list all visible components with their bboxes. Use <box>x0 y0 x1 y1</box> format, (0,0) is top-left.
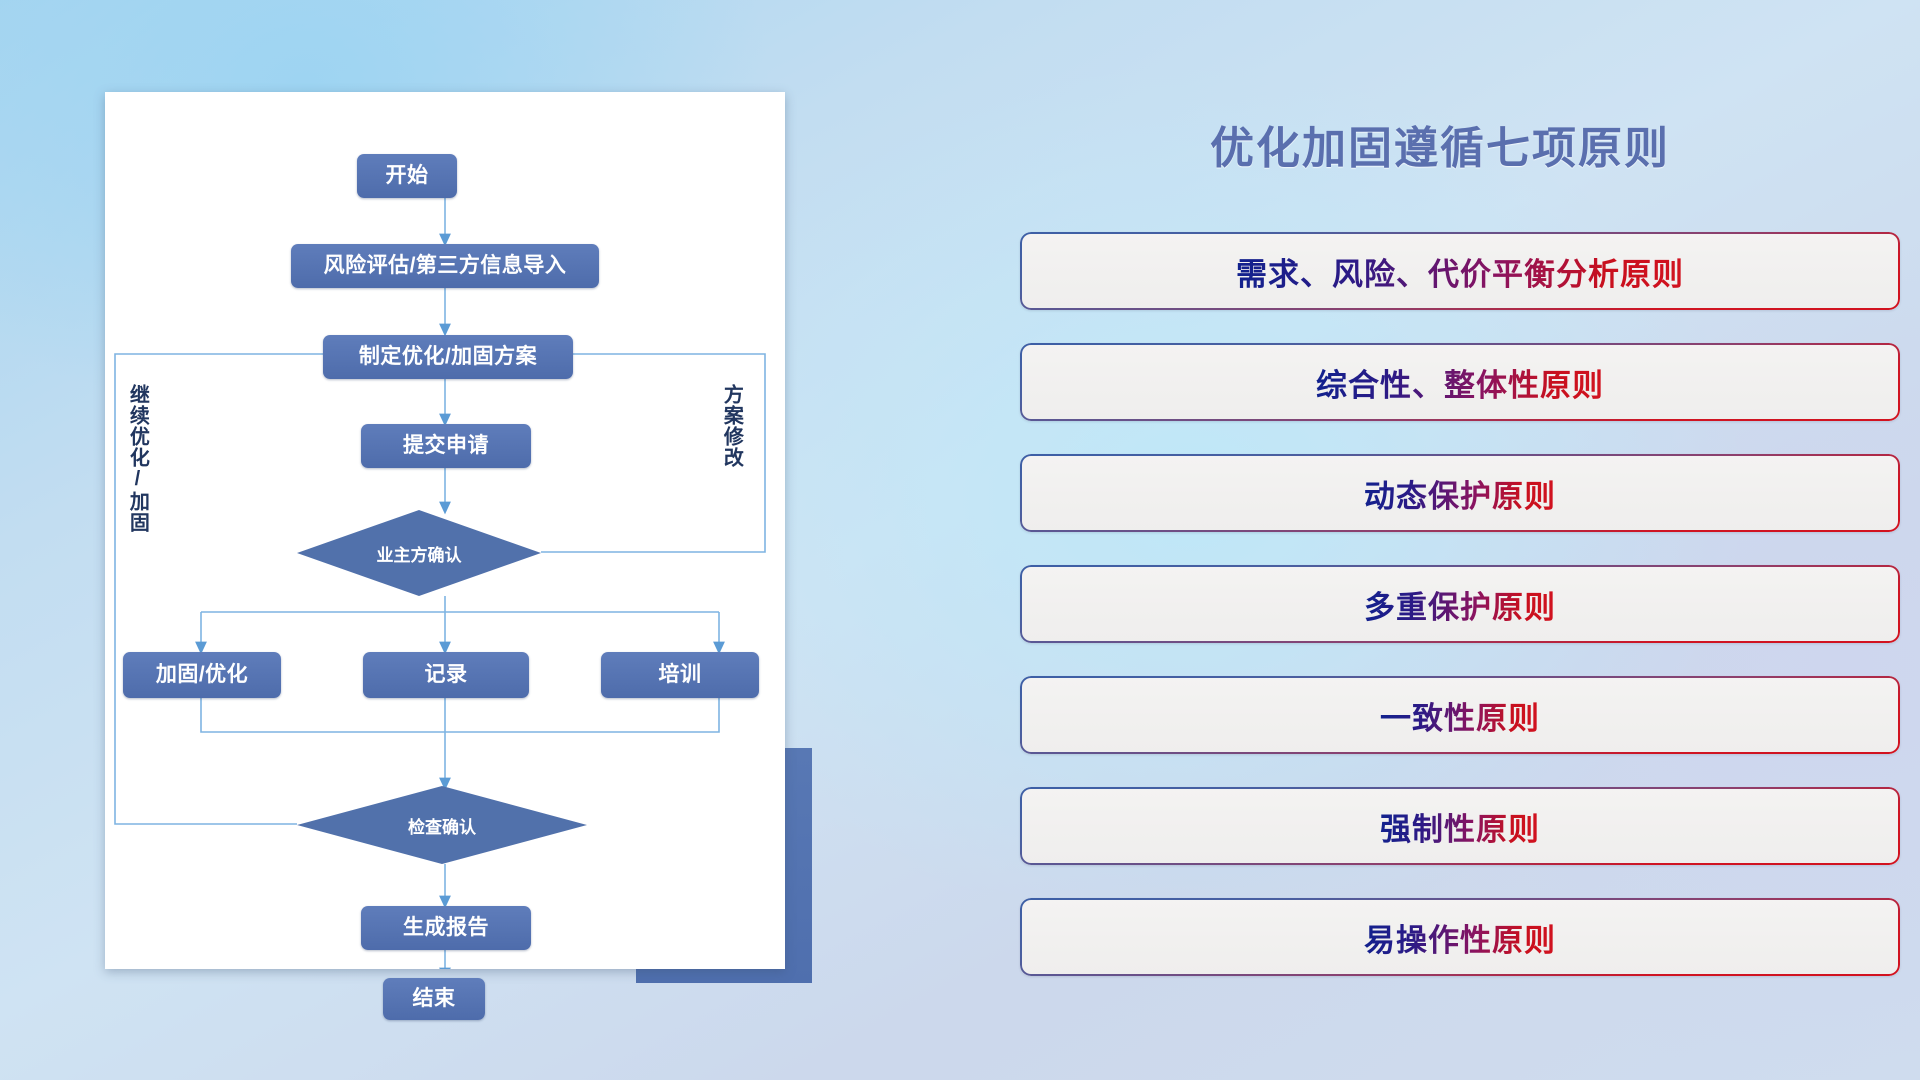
flowchart-panel: 开始 风险评估/第三方信息导入 制定优化/加固方案 提交申请 业主方确认 加固/… <box>0 0 1000 1080</box>
principle-label: 一致性原则 <box>1380 693 1540 738</box>
principles-title: 优化加固遵循七项原则 <box>1000 112 1880 176</box>
principle-label: 强制性原则 <box>1380 804 1540 849</box>
flow-node-generate-report[interactable]: 生成报告 <box>361 906 531 950</box>
flow-node-reinforce-optimize[interactable]: 加固/优化 <box>123 652 281 698</box>
edge-label-plan-revision: 方案修改 <box>721 384 741 468</box>
principle-card-6[interactable]: 强制性原则 <box>1020 787 1900 865</box>
flow-node-record[interactable]: 记录 <box>363 652 529 698</box>
principle-card-5[interactable]: 一致性原则 <box>1020 676 1900 754</box>
principle-label: 易操作性原则 <box>1364 915 1556 960</box>
principle-label: 动态保护原则 <box>1364 471 1556 516</box>
principle-card-1[interactable]: 需求、风险、代价平衡分析原则 <box>1020 232 1900 310</box>
principles-list: 需求、风险、代价平衡分析原则 综合性、整体性原则 动态保护原则 多重保护原则 一… <box>1020 232 1900 1009</box>
flow-node-training[interactable]: 培训 <box>601 652 759 698</box>
flow-node-submit-application[interactable]: 提交申请 <box>361 424 531 468</box>
flow-node-start[interactable]: 开始 <box>357 154 457 198</box>
flow-node-risk-assessment[interactable]: 风险评估/第三方信息导入 <box>291 244 599 288</box>
principles-panel: 优化加固遵循七项原则 需求、风险、代价平衡分析原则 综合性、整体性原则 动态保护… <box>1000 0 1920 1080</box>
principle-card-2[interactable]: 综合性、整体性原则 <box>1020 343 1900 421</box>
principle-card-3[interactable]: 动态保护原则 <box>1020 454 1900 532</box>
principle-card-4[interactable]: 多重保护原则 <box>1020 565 1900 643</box>
principle-label: 综合性、整体性原则 <box>1316 360 1604 405</box>
principle-label: 多重保护原则 <box>1364 582 1556 627</box>
principle-card-7[interactable]: 易操作性原则 <box>1020 898 1900 976</box>
flow-node-make-plan[interactable]: 制定优化/加固方案 <box>323 335 573 379</box>
flow-node-end[interactable]: 结束 <box>383 978 485 1020</box>
flowchart-card: 开始 风险评估/第三方信息导入 制定优化/加固方案 提交申请 业主方确认 加固/… <box>105 92 785 969</box>
principle-label: 需求、风险、代价平衡分析原则 <box>1236 249 1684 294</box>
edge-label-continue-optimize: 继续优化/加固 <box>127 384 147 533</box>
